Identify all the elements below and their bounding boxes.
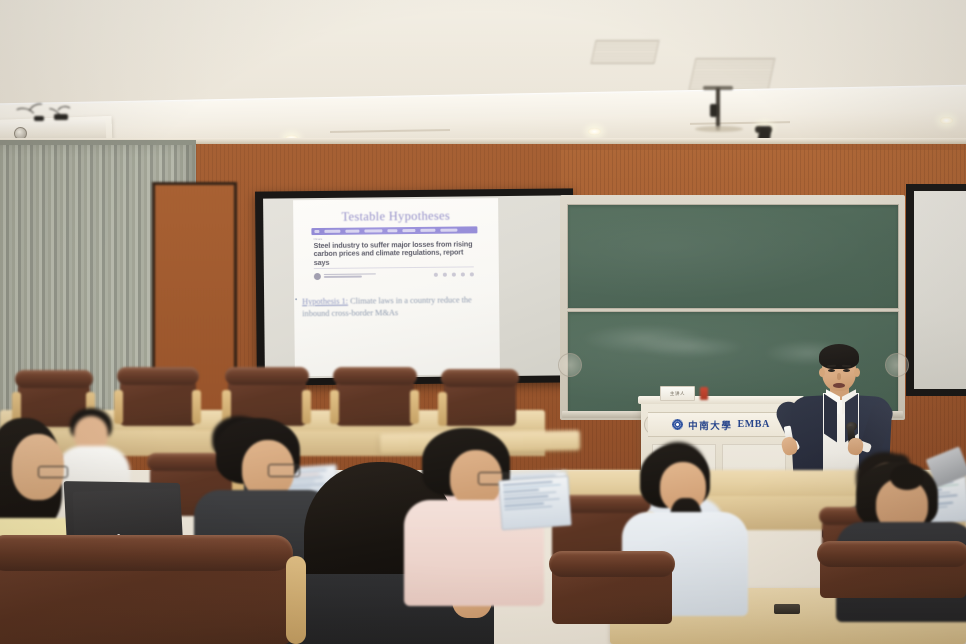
slide-bullet: Hypothesis 1: Climate laws in a country … xyxy=(302,294,492,319)
presenter-ear xyxy=(854,368,860,377)
recessed-downlight-icon xyxy=(940,117,953,124)
facebook-icon xyxy=(443,273,447,277)
leather-armchair xyxy=(444,374,516,426)
twitter-icon xyxy=(452,273,456,277)
slide-bullet-marker xyxy=(295,298,297,300)
armchair-headroll xyxy=(817,541,966,567)
news-headline: Steel industry to suffer major losses fr… xyxy=(314,240,474,267)
leather-armchair xyxy=(820,546,966,598)
leather-armchair xyxy=(120,372,196,426)
recessed-downlight-icon xyxy=(588,128,601,135)
laptop-content-lines xyxy=(503,480,567,512)
leather-armchair xyxy=(552,556,672,624)
leather-armchair xyxy=(336,372,414,426)
student-hair-bun xyxy=(890,464,924,490)
desk-cable-port xyxy=(774,604,800,614)
armchair-headroll xyxy=(333,367,417,385)
slide-bullet-label: Hypothesis 1: xyxy=(302,297,348,306)
projector-cables xyxy=(8,104,80,130)
armchair-headroll xyxy=(117,367,199,385)
armchair-headroll xyxy=(441,369,519,387)
armchair-headroll xyxy=(225,367,309,385)
side-projection-screen xyxy=(906,184,966,396)
link-icon xyxy=(461,272,465,276)
projection-screen-surface: Testable Hypotheses Climate Steel indust… xyxy=(263,195,567,378)
presenter-nose xyxy=(837,373,841,380)
side-projection-screen-surface xyxy=(914,191,966,389)
news-avatar xyxy=(314,273,321,280)
leather-armchair xyxy=(0,540,290,644)
slide-news-screenshot: Climate Steel industry to suffer major l… xyxy=(311,226,478,286)
ceiling-mount-disc xyxy=(695,126,743,132)
podium-drink-cup xyxy=(700,387,708,400)
news-byline xyxy=(314,270,474,284)
projected-slide: Testable Hypotheses Climate Steel indust… xyxy=(293,198,500,376)
wall-seal-emblem xyxy=(558,353,582,377)
armchair-headroll xyxy=(549,551,675,577)
news-byline-lines xyxy=(324,273,376,280)
slide-title: Testable Hypotheses xyxy=(293,208,498,225)
laptop-screen xyxy=(498,476,571,531)
presenter-eye xyxy=(828,369,835,372)
armchair-headroll xyxy=(0,535,293,571)
chalkboard-upper-panel xyxy=(567,204,899,309)
podium-university-name: 中南大學 xyxy=(688,418,732,432)
presenter-ear xyxy=(819,368,825,377)
presenter-eye xyxy=(843,369,850,372)
news-share-icons xyxy=(422,272,474,279)
eyeglasses-icon xyxy=(38,466,68,478)
presenter-hair xyxy=(819,344,859,369)
nameplate-text: 主讲人 xyxy=(670,391,685,397)
podium-signage: 中南大學 EMBA xyxy=(648,412,794,437)
armchair-post xyxy=(438,392,447,426)
share-icon xyxy=(434,273,438,277)
armchair-post xyxy=(192,390,201,424)
university-seal-logo-icon xyxy=(672,419,683,430)
podium-nameplate: 主讲人 xyxy=(660,386,695,401)
lecture-hall-photo: Testable Hypotheses Climate Steel indust… xyxy=(0,0,966,644)
presenter-mouth xyxy=(833,383,845,388)
presenter-lapel-left xyxy=(824,394,837,443)
main-projection-screen: Testable Hypotheses Climate Steel indust… xyxy=(255,188,575,385)
armchair-post xyxy=(410,390,419,424)
armchair-post xyxy=(330,390,339,424)
curtain-track xyxy=(0,140,196,145)
podium-program-name: EMBA xyxy=(738,419,770,430)
armchair-headroll xyxy=(15,370,93,388)
mail-icon xyxy=(470,272,474,276)
ceiling-mount-box xyxy=(710,104,718,117)
armchair-arm xyxy=(286,556,306,644)
